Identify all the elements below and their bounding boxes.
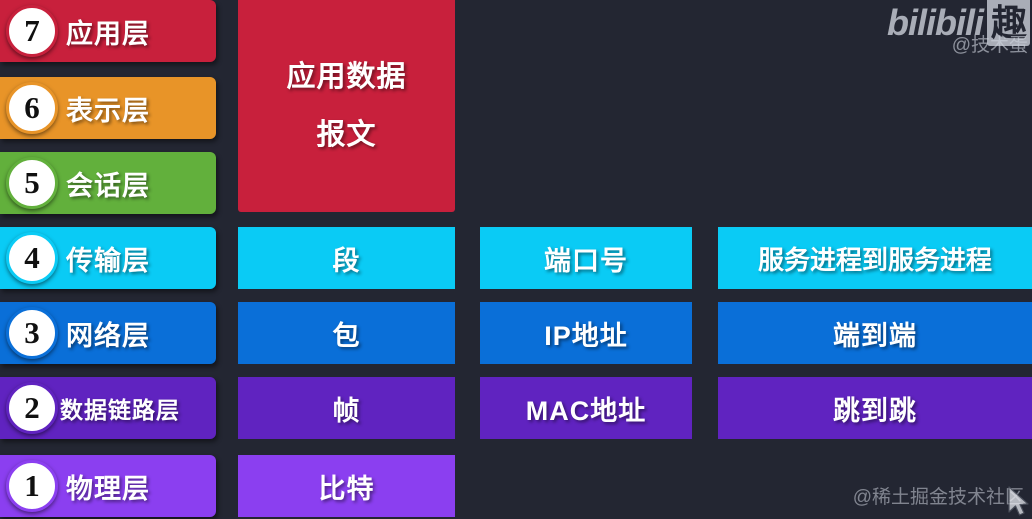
layer-name-6: 表示层 bbox=[66, 89, 150, 128]
pdu-cell-network: 包 bbox=[238, 302, 455, 364]
mouse-cursor-icon bbox=[1006, 485, 1032, 519]
layer-row-1[interactable]: 1 物理层 bbox=[0, 455, 216, 517]
layer-number-badge-1: 1 bbox=[6, 460, 58, 512]
layer-row-7[interactable]: 7 应用层 bbox=[0, 0, 216, 62]
address-cell-datalink: MAC地址 bbox=[480, 377, 692, 439]
address-cell-network: IP地址 bbox=[480, 302, 692, 364]
scope-cell-transport: 服务进程到服务进程 bbox=[718, 227, 1032, 289]
layer-row-6[interactable]: 6 表示层 bbox=[0, 77, 216, 139]
bilibili-logo-text: bilibili bbox=[887, 2, 983, 43]
pdu-cell-transport: 段 bbox=[238, 227, 455, 289]
layer-name-4: 传输层 bbox=[66, 239, 150, 278]
application-data-line2: 报文 bbox=[316, 120, 376, 150]
bilibili-watermark: bilibili趣 bbox=[887, 0, 1030, 46]
layer-row-3[interactable]: 3 网络层 bbox=[0, 302, 216, 364]
layer-number-badge-2: 2 bbox=[6, 382, 58, 434]
layer-name-3: 网络层 bbox=[66, 314, 150, 353]
bilibili-badge-text: 趣 bbox=[987, 0, 1030, 46]
author-handle-watermark: @技术蛋 bbox=[952, 30, 1028, 57]
layer-number-badge-4: 4 bbox=[6, 232, 58, 284]
application-data-block: 应用数据 报文 bbox=[238, 0, 455, 212]
scope-cell-network: 端到端 bbox=[718, 302, 1032, 364]
layer-name-5: 会话层 bbox=[66, 164, 150, 203]
layer-number-badge-3: 3 bbox=[6, 307, 58, 359]
community-watermark: @稀土掘金技术社区 bbox=[853, 482, 1024, 509]
layer-number-badge-7: 7 bbox=[6, 5, 58, 57]
layer-row-2[interactable]: 2 数据链路层 bbox=[0, 377, 216, 439]
osi-model-diagram: 7 应用层 6 表示层 5 会话层 4 传输层 3 网络层 2 数据链路层 1 … bbox=[0, 0, 1032, 519]
pdu-cell-datalink: 帧 bbox=[238, 377, 455, 439]
layer-name-1: 物理层 bbox=[66, 467, 150, 506]
layer-name-7: 应用层 bbox=[66, 12, 150, 51]
layer-number-badge-5: 5 bbox=[6, 157, 58, 209]
layer-row-5[interactable]: 5 会话层 bbox=[0, 152, 216, 214]
application-data-line1: 应用数据 bbox=[286, 62, 406, 92]
layer-row-4[interactable]: 4 传输层 bbox=[0, 227, 216, 289]
address-cell-transport: 端口号 bbox=[480, 227, 692, 289]
scope-cell-datalink: 跳到跳 bbox=[718, 377, 1032, 439]
layer-number-badge-6: 6 bbox=[6, 82, 58, 134]
pdu-cell-physical: 比特 bbox=[238, 455, 455, 517]
layer-name-2: 数据链路层 bbox=[60, 391, 180, 425]
